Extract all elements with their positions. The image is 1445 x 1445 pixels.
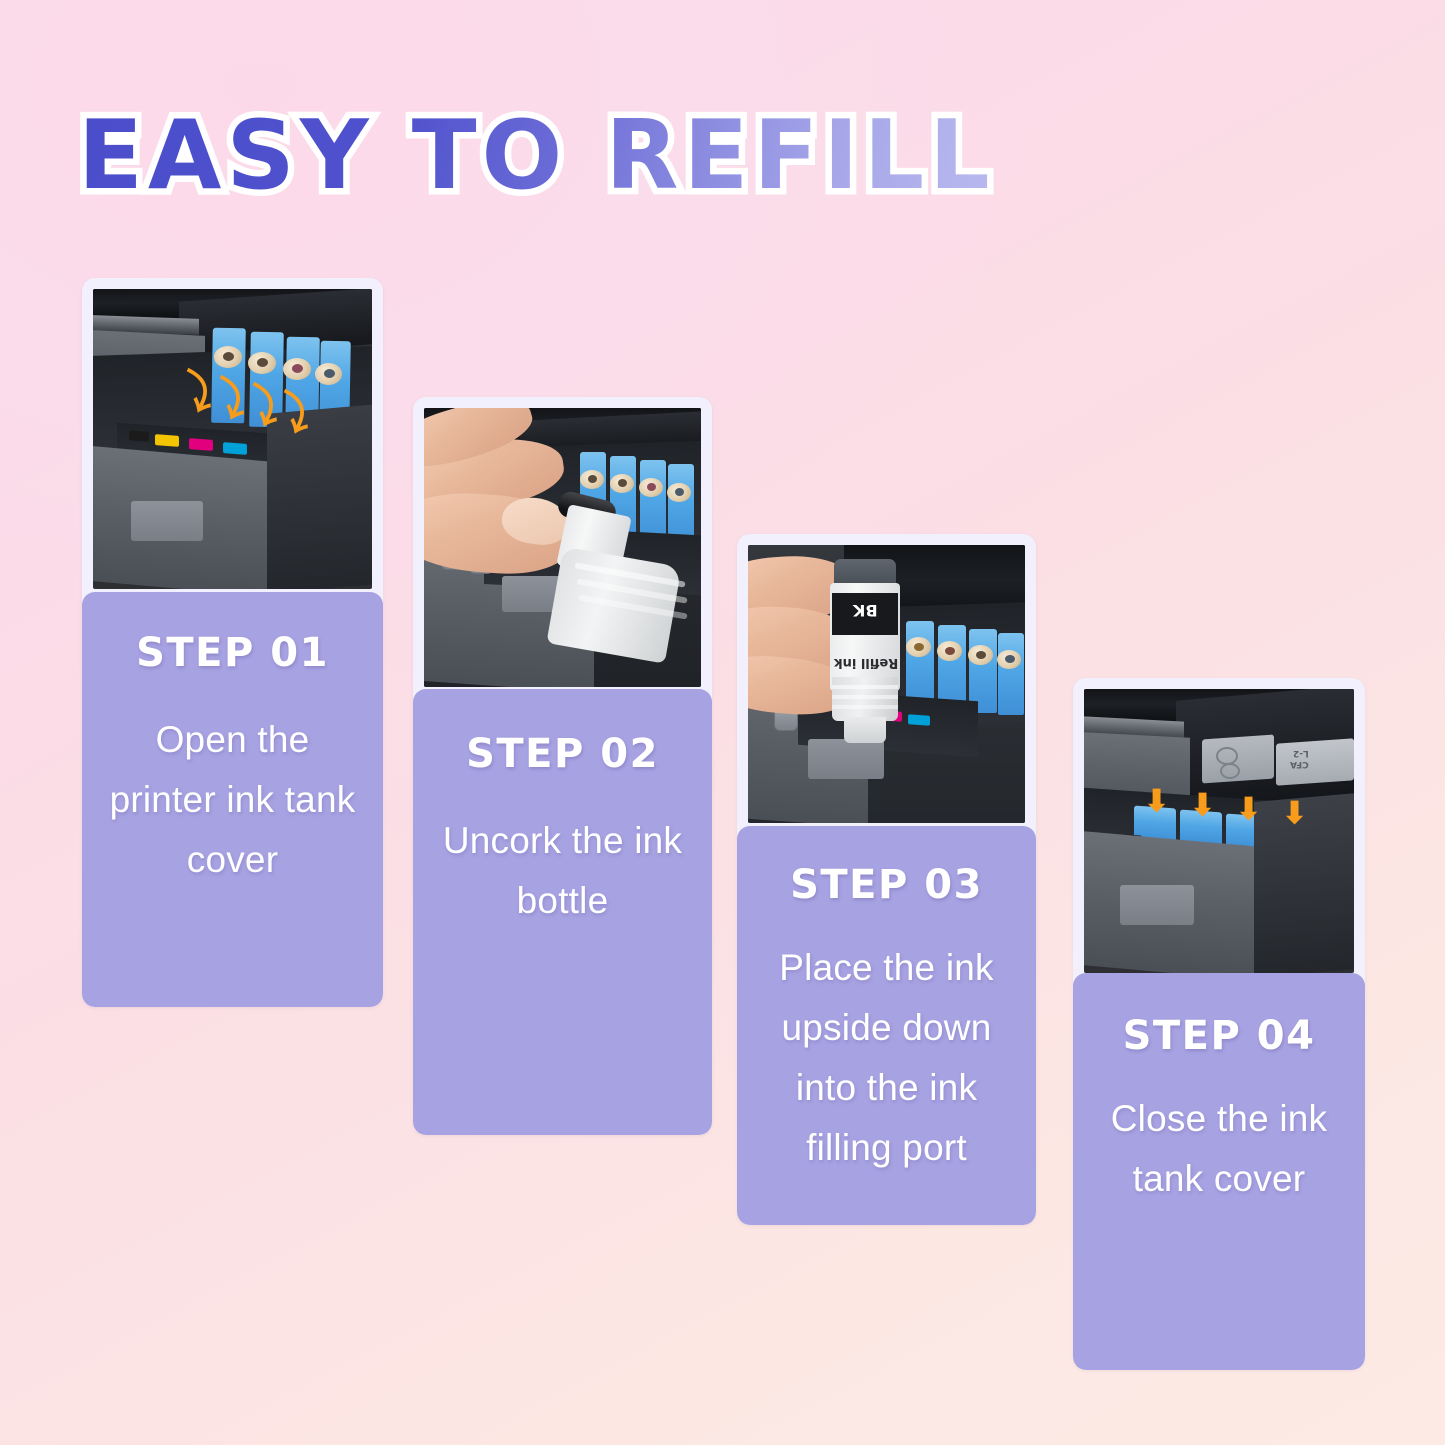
ink-bottle-label-bk-text: BK <box>853 601 878 620</box>
step-01-description: Open the printer ink tank cover <box>82 676 383 890</box>
step-01-label: STEP 01 <box>82 592 383 676</box>
step-card-02[interactable]: STEP 02 Uncork the ink bottle <box>413 397 712 1135</box>
step-04-description: Close the ink tank cover <box>1073 1059 1365 1209</box>
step-02-description: Uncork the ink bottle <box>413 777 712 931</box>
step-card-03[interactable]: BK Refill ink STEP 03 Place the ink upsi… <box>737 534 1036 1225</box>
step-01-photo: ⤵ ⤵ ⤵ ⤵ <box>93 289 372 589</box>
step-01-body: STEP 01 Open the printer ink tank cover <box>82 592 383 1007</box>
step-03-photo: BK Refill ink <box>748 545 1025 823</box>
orange-arrow-icon: ⬇ <box>1144 787 1169 817</box>
orange-arrow-icon: ⬇ <box>1282 799 1307 829</box>
step-04-body: STEP 04 Close the ink tank cover <box>1073 973 1365 1370</box>
page-title-fill: EASY TO REFILL <box>78 104 995 209</box>
step-04-photo: CFAL-2 ⬇ ⬇ ⬇ ⬇ <box>1084 689 1354 973</box>
step-card-04[interactable]: CFAL-2 ⬇ ⬇ ⬇ ⬇ <box>1073 678 1365 1370</box>
orange-arrow-icon: ⬇ <box>1236 795 1261 825</box>
step-02-label: STEP 02 <box>413 689 712 777</box>
step-03-description: Place the ink upside down into the ink f… <box>737 908 1036 1178</box>
page-title: EASY TO REFILL EASY TO REFILL <box>78 104 978 209</box>
printer-plate-text: CFAL-2 <box>1290 747 1309 769</box>
step-card-01[interactable]: ⤵ ⤵ ⤵ ⤵ STEP 01 Open the printer ink tan… <box>82 278 383 1007</box>
ink-bottle-refill-text: Refill ink <box>834 655 898 670</box>
orange-arrow-icon: ⬇ <box>1190 791 1215 821</box>
step-03-body: STEP 03 Place the ink upside down into t… <box>737 826 1036 1225</box>
step-03-label: STEP 03 <box>737 826 1036 908</box>
step-02-body: STEP 02 Uncork the ink bottle <box>413 689 712 1135</box>
step-04-label: STEP 04 <box>1073 973 1365 1059</box>
infographic-poster: EASY TO REFILL EASY TO REFILL <box>0 0 1445 1445</box>
step-02-photo <box>424 408 701 687</box>
